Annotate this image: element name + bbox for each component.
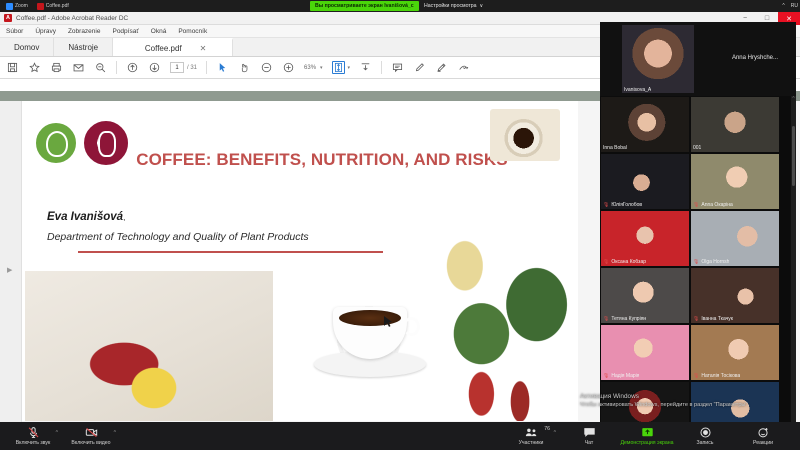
- participant-name: Надія Марія: [611, 373, 639, 379]
- slide-divider: [78, 251, 383, 253]
- participants-button[interactable]: Участники 76 ^: [504, 422, 558, 450]
- acrobat-logo-icon: A: [4, 14, 12, 22]
- chevron-down-icon: ∨: [480, 3, 484, 9]
- participant-tile[interactable]: 🎙 Оксана Кобзар: [601, 211, 689, 266]
- participant-tile[interactable]: 🎙 Іванна Ткачук: [691, 268, 779, 323]
- expand-pane-arrow-icon[interactable]: ▶: [7, 266, 12, 274]
- reactions-label: Реакции: [753, 440, 773, 446]
- participants-icon: [525, 427, 538, 439]
- slide-author-name: Eva Ivanišová: [47, 211, 123, 223]
- tray-language-indicator[interactable]: RU: [791, 3, 798, 9]
- slide-author-comma: ,: [123, 213, 125, 222]
- participant-grid: Inna Bobal 001 🎙 ЮліяГолобов 🎙 Anna Окар…: [600, 96, 796, 438]
- chat-label: Чат: [585, 440, 594, 446]
- participant-name: Olga Hornsh: [701, 259, 729, 265]
- spotlight-tile-label: Ivanisova_A: [624, 87, 651, 93]
- microphone-muted-icon: 🎙: [693, 373, 699, 379]
- menu-item-pomocnik[interactable]: Pomocník: [178, 28, 207, 35]
- microphone-muted-icon: 🎙: [603, 373, 609, 379]
- participant-name-label: 🎙 Надія Марія: [603, 373, 639, 379]
- participant-name: ЮліяГолобов: [611, 202, 642, 208]
- windows-activation-watermark: Активация Windows Чтобы активировать Win…: [580, 392, 795, 409]
- reactions-button[interactable]: Реакции: [736, 422, 790, 450]
- scrollbar-thumb[interactable]: [792, 126, 795, 186]
- acrobat-window-title: Coffee.pdf - Adobe Acrobat Reader DC: [16, 15, 128, 22]
- spotlight-tile-name: Ivanisova_A: [624, 87, 651, 93]
- chat-icon: [583, 427, 596, 439]
- tab-domov[interactable]: Domov: [0, 38, 54, 56]
- page-down-icon[interactable]: [148, 61, 161, 74]
- participant-name-label: 🎙 Olga Hornsh: [693, 259, 729, 265]
- participant-name-label: 🎙 Оксана Кобзар: [603, 259, 646, 265]
- print-icon[interactable]: [50, 61, 63, 74]
- tab-document-coffee-pdf[interactable]: Coffee.pdf ✕: [113, 38, 233, 56]
- screen: Zoom Coffee.pdf Вы просматриваете экран …: [0, 0, 800, 450]
- menu-item-zobrazenie[interactable]: Zobrazenie: [68, 28, 101, 35]
- participant-tile[interactable]: 001: [691, 97, 779, 152]
- menu-item-upravy[interactable]: Úpravy: [35, 28, 56, 35]
- start-video-label: Включить видео: [71, 440, 110, 446]
- microphone-muted-icon: 🎙: [603, 316, 609, 322]
- record-icon: [699, 427, 712, 439]
- taskbar-items: Zoom Coffee.pdf: [0, 1, 72, 12]
- zoom-bar-left-group: Включить звук ^ Включить видео ^: [0, 422, 118, 450]
- toolbar-file-group: [6, 61, 107, 74]
- sign-icon[interactable]: [457, 61, 470, 74]
- draw-icon[interactable]: [435, 61, 448, 74]
- participant-name: Тетяна Купріян: [611, 316, 646, 322]
- participant-name: 001: [693, 145, 701, 151]
- taskbar-item-zoom[interactable]: Zoom: [3, 1, 31, 12]
- toolbar-divider: [116, 61, 117, 74]
- fit-page-icon[interactable]: [332, 61, 345, 74]
- slide-title: COFFEE: BENEFITS, NUTRITION, AND RISKS: [122, 149, 522, 171]
- toolbar-divider: [381, 61, 382, 74]
- tray-expand-icon[interactable]: ^: [782, 3, 784, 9]
- taskbar-item-zoom-label: Zoom: [15, 3, 28, 9]
- participant-name-label: 🎙 Іванна Ткачук: [693, 316, 733, 322]
- share-screen-label: Демонстрация экрана: [620, 440, 673, 446]
- coffee-cup-world-map-photo: [490, 109, 560, 161]
- watermark-title: Активация Windows: [580, 392, 795, 401]
- coffee-plant-botanical-illustration: [440, 227, 578, 421]
- chat-button[interactable]: Чат: [562, 422, 616, 450]
- participant-name: Наталія Тосікова: [701, 373, 740, 379]
- page-up-icon[interactable]: [126, 61, 139, 74]
- mouse-cursor-icon: [384, 316, 393, 331]
- participants-count: 76: [544, 426, 550, 432]
- spotlight-participant-name: Anna Hryshche...: [732, 55, 778, 61]
- participant-name-label: 🎙 ЮліяГолобов: [603, 202, 642, 208]
- participant-name-label: Inna Bobal: [603, 145, 627, 151]
- participant-name: Inna Bobal: [603, 145, 627, 151]
- participants-caret-icon[interactable]: ^: [554, 430, 556, 436]
- menu-item-okna[interactable]: Okná: [151, 28, 167, 35]
- spotlight-tile[interactable]: Ivanisova_A Anna Hryshche...: [600, 22, 796, 96]
- toolbar-divider: [206, 61, 207, 74]
- close-icon[interactable]: ✕: [200, 44, 207, 53]
- hand-tool-icon[interactable]: [238, 61, 251, 74]
- watermark-subtitle: Чтобы активировать Windows, перейдите в …: [580, 401, 795, 409]
- video-options-caret-icon[interactable]: ^: [114, 430, 116, 436]
- zoom-out-icon[interactable]: [260, 61, 273, 74]
- microphone-muted-icon: 🎙: [603, 259, 609, 265]
- participant-name-label: 🎙 Наталія Тосікова: [693, 373, 740, 379]
- participant-tile[interactable]: Inna Bobal: [601, 97, 689, 152]
- zoom-level-selector[interactable]: 63% ▾: [304, 65, 323, 71]
- view-options-menu[interactable]: Настройки просмотра ∨: [424, 1, 483, 11]
- gallery-scrollbar[interactable]: ⌃: [791, 96, 796, 440]
- zoom-video-gallery-panel: Ivanisova_A Anna Hryshche... Inna Bobal …: [600, 22, 796, 440]
- zoom-app-icon: [6, 3, 13, 10]
- participant-name-label: 001: [693, 145, 701, 151]
- select-tool-icon[interactable]: [216, 61, 229, 74]
- save-icon[interactable]: [6, 61, 19, 74]
- cup-handle-shape: [403, 317, 420, 336]
- tab-nastroje[interactable]: Nástroje: [54, 38, 113, 56]
- participant-tile[interactable]: 🎙 Надія Марія: [601, 325, 689, 380]
- view-options-label: Настройки просмотра: [424, 3, 477, 9]
- participant-name-label: 🎙 Тетяна Купріян: [603, 316, 646, 322]
- chevron-down-icon[interactable]: ▾: [348, 65, 351, 71]
- start-video-button[interactable]: Включить видео ^: [64, 422, 118, 450]
- page-number-input[interactable]: 1: [170, 62, 184, 73]
- zoom-search-icon[interactable]: [94, 61, 107, 74]
- reactions-icon: [757, 427, 770, 439]
- navigation-pane-rail[interactable]: ▶: [0, 101, 22, 434]
- microphone-muted-icon: 🎙: [693, 259, 699, 265]
- scroll-mode-icon[interactable]: [359, 61, 372, 74]
- slide-department: Department of Technology and Quality of …: [47, 231, 309, 243]
- pdf-page-1: COFFEE: BENEFITS, NUTRITION, AND RISKS E…: [22, 101, 578, 421]
- menu-item-subor[interactable]: Súbor: [6, 28, 23, 35]
- star-icon[interactable]: [28, 61, 41, 74]
- comment-icon[interactable]: [391, 61, 404, 74]
- highlight-icon[interactable]: [413, 61, 426, 74]
- audio-options-caret-icon[interactable]: ^: [56, 430, 58, 436]
- toolbar-annotate-group: [391, 61, 470, 74]
- slovak-university-of-agriculture-logo: [36, 123, 76, 163]
- page-total-label: / 31: [187, 65, 197, 71]
- slide-author: Eva Ivanišová,: [47, 211, 125, 223]
- participant-name-label: 🎙 Anna Окаріна: [693, 202, 733, 208]
- toolbar-page-group: 1 / 31: [126, 61, 197, 74]
- unmute-audio-label: Включить звук: [16, 440, 51, 446]
- share-screen-button[interactable]: Демонстрация экрана: [620, 422, 674, 450]
- camera-muted-icon: [85, 427, 98, 439]
- share-screen-icon: [641, 427, 654, 439]
- participant-tile[interactable]: 🎙 ЮліяГолобов: [601, 154, 689, 209]
- menu-item-podpisat[interactable]: Podpísať: [112, 28, 138, 35]
- microphone-muted-icon: 🎙: [693, 202, 699, 208]
- acrobat-app-icon: [37, 3, 44, 10]
- tab-document-label: Coffee.pdf: [145, 44, 182, 53]
- microphone-muted-icon: 🎙: [603, 202, 609, 208]
- screen-share-banner: Вы просматриваете экран Ivanišová_c: [310, 1, 419, 11]
- participant-name: Оксана Кобзар: [611, 259, 646, 265]
- system-tray: ^ RU: [782, 0, 798, 12]
- spotlight-video: [622, 25, 694, 93]
- microphone-muted-icon: 🎙: [693, 316, 699, 322]
- participant-tile[interactable]: 🎙 Olga Hornsh: [691, 211, 779, 266]
- coffee-beans-spices-arrangement-photo: [25, 271, 273, 421]
- zoom-in-icon[interactable]: [282, 61, 295, 74]
- unmute-audio-button[interactable]: Включить звук ^: [6, 422, 60, 450]
- windows-taskbar: Zoom Coffee.pdf Вы просматриваете экран …: [0, 0, 800, 12]
- participant-tile[interactable]: 🎙 Тетяна Купріян: [601, 268, 689, 323]
- chevron-down-icon: ▾: [320, 65, 323, 71]
- scroll-up-icon[interactable]: ⌃: [791, 96, 796, 102]
- email-icon[interactable]: [72, 61, 85, 74]
- participant-tile[interactable]: 🎙 Наталія Тосікова: [691, 325, 779, 380]
- record-label: Запись: [696, 440, 713, 446]
- participants-label: Участники: [519, 440, 544, 446]
- zoom-bar-right-group: Участники 76 ^ Чат Демонстрация экрана: [504, 422, 800, 450]
- microphone-muted-icon: [27, 427, 40, 439]
- zoom-level-value: 63%: [304, 65, 316, 71]
- zoom-meeting-toolbar: Включить звук ^ Включить видео ^: [0, 422, 800, 450]
- taskbar-item-acrobat[interactable]: Coffee.pdf: [34, 1, 72, 12]
- participant-tile[interactable]: 🎙 Anna Окаріна: [691, 154, 779, 209]
- record-button[interactable]: Запись: [678, 422, 732, 450]
- toolbar-view-group: 63% ▾ ▾: [216, 61, 372, 74]
- taskbar-item-acrobat-label: Coffee.pdf: [46, 3, 69, 9]
- participant-name: Anna Окаріна: [701, 202, 732, 208]
- participant-name: Іванна Ткачук: [701, 316, 733, 322]
